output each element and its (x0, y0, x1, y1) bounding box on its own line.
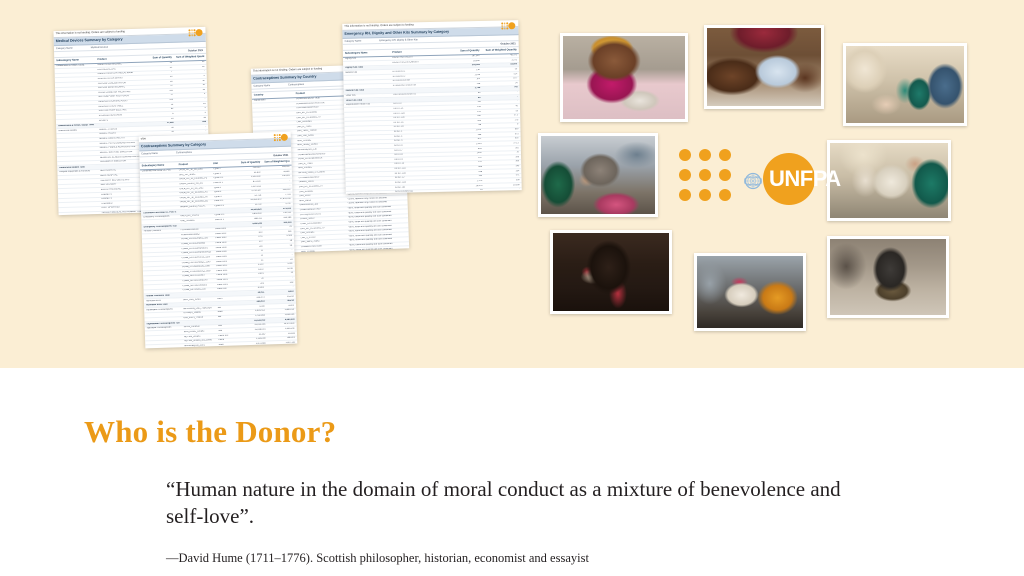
table-cell (59, 157, 96, 161)
col-weighted: Sum of Weighted Quantity (264, 160, 289, 164)
table-cell: 53,890 (484, 64, 517, 67)
table-cell: SUCTION PUMP ELECTRIC (99, 109, 142, 113)
table-cell: Vial (218, 329, 236, 332)
table-cell: 140 (449, 175, 482, 178)
col-subcategory: Subcategory Name (142, 164, 175, 168)
table-cell: FOOT OPERATED (101, 206, 144, 210)
table-cell: 286,000 (270, 337, 295, 340)
table-cell: Kit KIT-10 (395, 162, 445, 166)
table-cell: - (484, 91, 517, 94)
table-cell: Injectable Contraceptives (147, 327, 180, 331)
table-cell (347, 173, 390, 176)
table-cell (143, 220, 176, 224)
table-cell: Piece 1000 (215, 237, 233, 240)
table-cell: 438 (449, 171, 482, 174)
document-contraceptives-by-category[interactable]: ufpa Contraceptives Summary by Category … (139, 132, 298, 349)
table-cell: 150,000 (265, 175, 290, 178)
table-cell: ORL_EXP1_75MG6 (183, 316, 214, 319)
table-cell: Kit KIT-11B (395, 181, 445, 185)
table-cell (346, 122, 389, 125)
table-cell: Anaesthesia & Resus. Equip. Total (58, 124, 95, 128)
table-cell: MODEL, PELVIS (99, 132, 142, 136)
table-cell: MPA_C/00MG (301, 249, 345, 253)
quote-attribution: —David Hume (1711–1776). Scottish philos… (166, 551, 866, 566)
table-cell: 40 (146, 131, 174, 134)
table-cell (183, 302, 214, 305)
table-cell: Combined Low Dose OC Pills (142, 169, 175, 173)
table-cell: 10 (238, 255, 263, 258)
table-cell: IMPLANON_LNG_75MGX2R (183, 307, 214, 310)
table-cell: Cycle of 1 (214, 177, 232, 180)
table-cell: Piece 100 (218, 334, 236, 337)
table-cell: 8 (486, 193, 519, 194)
table-cell: Kit KIT-1LB (393, 111, 443, 115)
table-cell: 19 (145, 104, 173, 107)
table-cell: 20 (146, 127, 174, 130)
table-cell: <80%, funds and quantity are both confir… (349, 247, 407, 252)
photo-mother-newborn-hospital-bed[interactable] (560, 33, 688, 122)
table-cell: 46,218 (269, 300, 294, 303)
table-cell: ORE_1150MG (180, 219, 211, 222)
logo-circle-icon (508, 22, 515, 29)
table-cell: 11 (238, 250, 263, 253)
table-cell (346, 126, 389, 129)
table-cell: 9,472,800 (240, 342, 265, 345)
table-cell: 900,018 (266, 221, 291, 224)
table-cell: 820 (485, 138, 518, 141)
photo-image (553, 233, 669, 311)
table-cell: 54,718 (236, 194, 261, 197)
logo-circle-icon (195, 29, 202, 36)
table-cell (142, 188, 175, 192)
table-cell: Hormonal IUDs (146, 299, 179, 303)
table-cell (58, 133, 95, 137)
table-cell (145, 276, 178, 280)
table-cell (60, 184, 97, 188)
table-cell: KIT/0/0/0/0/0TMH (393, 79, 443, 83)
table-cell (57, 78, 94, 82)
table-cell: OTORQX_188MG (183, 312, 214, 315)
table-cell: Kit KIT-8 (394, 153, 444, 157)
table-cell: 10,800 (239, 287, 264, 290)
table-cell: SUCTION PUMP, FOOT OPER. (98, 95, 141, 99)
category-value: Emergency RH, Dignity & Other Kits (379, 38, 417, 42)
table-cell: Implantable Contraceptives Total (147, 322, 180, 326)
table-cell: 675 (485, 133, 518, 136)
table-cell: 209 (268, 281, 293, 284)
table-cell: 8 (485, 124, 518, 127)
table-cell: 19,250,870 (236, 199, 261, 202)
category-value: Contraceptives (288, 83, 304, 87)
table-cell: Cycle 3 (214, 195, 232, 198)
table-cell (60, 175, 97, 179)
photo-image (846, 46, 964, 123)
table-cell: 39 (484, 68, 517, 71)
table-cell: LARYNGOSCOPE (97, 67, 140, 71)
table-cell: ORLB_OC_30_EE30MG_P0 (180, 196, 211, 199)
table-cell: Implantable Contraceptives (146, 308, 179, 312)
table-cell: Kit KIT-2B (394, 125, 444, 129)
table-cell: - (485, 101, 518, 104)
table-cell: ORLB_OC_30_EE_LNG (179, 168, 210, 171)
unfpa-logo-small (188, 29, 202, 36)
table-cell: DIGNITY/0/CUSTOM/0/KIT (392, 60, 442, 64)
table-cell: CONM_LATEXPR0010_1100 (182, 256, 213, 259)
table-cell: Piece 1001 (217, 283, 235, 286)
table-cell (346, 117, 389, 120)
table-cell: OXYGEN CONCENTRATOR (98, 81, 141, 85)
table-cell: 17 (145, 94, 173, 97)
table-cell: 988,311 (237, 218, 262, 221)
table-cell: 4,804,512 (239, 310, 264, 313)
table-cell: Kit KIT-11B (395, 171, 445, 175)
table-cell: 10 (268, 272, 293, 275)
photo-newborn-in-crib[interactable] (694, 253, 806, 331)
table-cell: CONM_NOTRU200M3 (182, 275, 213, 278)
unfpa-logo-small (501, 22, 515, 29)
table-cell: Medical Kits Total (346, 89, 389, 92)
category-value: Medical Devices (91, 46, 108, 49)
table-cell: ORB01_EE30D_NU_B1 (179, 182, 210, 185)
table-cell (60, 207, 97, 211)
table-cell: ANESTHESIA MACHINE (97, 63, 140, 67)
table-cell: 6,010 (238, 268, 263, 271)
hero-band: This information is not binding. Orders … (0, 0, 1024, 368)
table-cell: 5,850,810 (236, 213, 261, 216)
table-cell: Hospital Equipment & Furniture (59, 170, 96, 174)
category-label: Category Name (253, 84, 270, 88)
table-cell: - (177, 98, 205, 101)
table-cell: NET-EN_200MG (184, 335, 215, 338)
table-cell: Piece 1000 (216, 260, 234, 263)
table-cell (181, 224, 212, 227)
table-cell: 29 (144, 80, 172, 83)
table-cell: 371 (486, 175, 519, 178)
table-cell: 34,800 (235, 171, 260, 174)
table-cell (345, 75, 388, 78)
table-cell: 81,819 (270, 332, 295, 335)
table-cell: 10,700 (236, 204, 261, 207)
table-cell (392, 65, 442, 69)
table-cell: ORLB_OC_30_EE30MG_P2 (179, 191, 210, 194)
table-cell (347, 177, 390, 180)
unfpa-logo-small (274, 134, 288, 142)
col-product: Product (392, 50, 442, 54)
table-cell (100, 165, 143, 169)
col-quantity: Sum of Quantity (144, 56, 172, 60)
table-cell (147, 331, 180, 335)
table-cell (346, 108, 389, 111)
table-cell: 14,370,600 (269, 323, 294, 326)
table-cell: 1,018 (447, 74, 480, 77)
table-cell: MODEL, BIRTHING SIMULATOR (100, 151, 143, 155)
table-cell (348, 182, 391, 185)
table-cell: 44,487 (240, 333, 265, 336)
table-cell: 10 (486, 151, 519, 154)
photo-midwife-handing-newborn[interactable] (827, 140, 951, 221)
table-cell: Emergency Contraceptives Total (144, 225, 177, 229)
table-cell: 1,510,854 (240, 315, 265, 318)
table-cell: Piece 100 (217, 288, 235, 291)
table-cell: Vial (218, 325, 236, 328)
table-cell: 35 (144, 62, 172, 65)
table-cell: 47 (144, 85, 172, 88)
col-country: Country (254, 93, 292, 97)
table-cell: 90 (177, 89, 205, 92)
photo-mother-infant-shelter[interactable] (827, 236, 949, 318)
col-subcategory: Subcategory Name (56, 59, 93, 63)
logo-dot-grid-icon (679, 149, 731, 201)
table-cell: - (178, 130, 206, 133)
table-cell: 2 (176, 75, 204, 78)
table-cell (183, 293, 214, 296)
table-cell: FCM/FEMIDOM8Q (181, 233, 212, 236)
table-cell: - (268, 277, 293, 280)
table-cell (348, 186, 391, 189)
table-cell (57, 83, 94, 87)
table-cell: ORLB_OC_30_EE_LNG (179, 187, 210, 190)
table-cell: ORLB_OC_30_EE30MG_B1 (180, 201, 211, 204)
un-emblem-icon (741, 169, 765, 193)
table-cell (393, 88, 443, 92)
table-cell: Piece 1000 (216, 242, 234, 245)
table-cell (144, 248, 177, 252)
table-cell (143, 197, 176, 201)
table-cell: 231 (447, 111, 480, 114)
table-cell: Piece 1000 (216, 251, 234, 254)
table-cell (180, 210, 211, 213)
table-cell: 800 (266, 231, 291, 234)
table-cell: 22 (145, 117, 173, 120)
table-cell: Kit KIT-11B (394, 116, 444, 120)
table-cell (347, 159, 390, 162)
table-cell: OXYGEN MASK NEONATE (98, 86, 141, 90)
table-cell: 1,170 (449, 180, 482, 183)
photo-medical-team-delivery-room[interactable] (843, 43, 967, 126)
table-cell: 30 (177, 84, 205, 87)
table-cell: Emergency Contraceptives (143, 216, 176, 220)
table-cell: 3 (177, 107, 205, 110)
table-cell: Set (218, 306, 236, 309)
table-cell (347, 149, 390, 152)
table-cell: 0/TMO/0/KIT/0/0/0/0TM (393, 84, 443, 88)
table-cell: 22 (267, 258, 292, 261)
table-cell (345, 80, 388, 83)
table-cell: ORB001_EE30D_P02_P1 (180, 205, 211, 208)
table-cell: Piece 1001 (217, 274, 235, 277)
table-cell: 119 (144, 90, 172, 93)
table-cell (143, 202, 176, 206)
table-cell: Anatomical Models Total (59, 166, 96, 170)
table-cell: 1,128,000 (240, 338, 265, 341)
table-cell: MODEL, UTERUS (99, 128, 142, 132)
table-cell: TROLLEY/MEDICAL INSTRUMENT TABLE, ASEPT (101, 211, 144, 215)
table-cell: 290 (178, 121, 206, 124)
table-cell (145, 271, 178, 275)
table-cell: CONM_NOTROORMOP0 (182, 279, 213, 282)
photo-mother-child-resting[interactable] (538, 133, 658, 217)
table-cell (60, 189, 97, 193)
table-cell: 295 (448, 120, 481, 123)
table-cell: 20 (144, 76, 172, 79)
table-cell: 399 (486, 156, 519, 159)
col-weighted: Sum of Weighted Quantity (483, 49, 516, 53)
table-cell: 40,373 (484, 54, 517, 57)
table-cell: Piece (219, 339, 237, 342)
table-cell: 5,850,283 (237, 222, 262, 225)
table-cell (59, 161, 96, 165)
table-cell: Dignity Kits Total (345, 66, 388, 69)
table-cell: 80 (447, 92, 480, 95)
table-cell: 1,508 (267, 235, 292, 238)
table-cell: Other Kits Total (346, 99, 389, 102)
category-value: Contraceptives (176, 151, 192, 154)
table-cell (58, 106, 95, 110)
table-cell: 0.51 (237, 236, 262, 239)
table-cell: CONM_LATEXORMAN00AQ3 (181, 252, 212, 255)
table-cell: 1,000 (267, 263, 292, 266)
table-cell (217, 302, 235, 305)
table-cell: 51 (144, 67, 172, 70)
table-cell: 54 (238, 259, 263, 262)
table-cell: 1,434 (448, 143, 481, 146)
table-cell: Pack of 1 (214, 200, 232, 203)
table-cell: 135 (447, 106, 480, 109)
table-cell (57, 69, 94, 73)
table-cell: 2 (177, 112, 205, 115)
table-cell: CONM_OTODRMAOQ_1060 (182, 270, 213, 273)
table-cell (144, 253, 177, 257)
table-cell (59, 152, 96, 156)
table-cell (60, 180, 97, 184)
document-emergency-rh-kits-summary[interactable]: This information is not binding. Orders … (342, 20, 522, 194)
content-area: Who is the Donor? “Human nature in the d… (0, 368, 1024, 576)
table-cell (142, 174, 175, 178)
table-cell (58, 120, 95, 124)
col-unit: Unit (213, 162, 231, 166)
table-cell (147, 336, 180, 340)
table-cell (146, 290, 179, 294)
table-cell (218, 320, 236, 323)
table-cell (57, 97, 94, 101)
table-cell: RESUSCITATOR INFANT (98, 77, 141, 81)
photo-image (563, 36, 685, 119)
table-cell: MPASUBQ100_0001 (184, 344, 215, 347)
table-cell: 6,010 (268, 267, 293, 270)
table-cell: PULSE OXIMETER PAEDIATRIC (98, 91, 141, 95)
table-cell (146, 317, 179, 321)
table-cell: MPA_DLMG_100MG (184, 330, 215, 333)
table-cell: Anatomical Models (58, 129, 95, 133)
table-cell: Cycle 1 (213, 168, 231, 171)
table-cell: Piece 1001 (216, 269, 234, 272)
table-cell: Kit KIT-0B (395, 185, 445, 189)
table-cell: 209 (239, 282, 264, 285)
table-cell: 8,618 (268, 291, 293, 294)
table-cell (143, 193, 176, 197)
table-cell: BED DELIVERY (101, 183, 144, 187)
table-cell: Piece 1000 (216, 246, 234, 249)
table-cell: 50 (485, 110, 518, 113)
table-cell: Piece 1000 (215, 232, 233, 235)
table-cell (345, 62, 388, 65)
table-cell: 239,473 (239, 296, 264, 299)
col-quantity: Sum of Quantity (446, 49, 479, 53)
page-title: Who is the Donor? (84, 414, 336, 450)
unfpa-wordmark: UNFPA (769, 166, 841, 192)
table-cell (346, 112, 389, 115)
table-cell: - (178, 126, 206, 129)
table-cell (60, 198, 97, 202)
table-cell: 872,400 (235, 181, 260, 184)
unfpa-logo: UNFPA (679, 143, 801, 205)
table-cell: CONM_LATEXORM/860 (181, 242, 212, 245)
table-cell: 24 (177, 103, 205, 106)
table-cell: <80%, funds and quantity are both confir… (349, 252, 407, 254)
table-cell: 720,000 (235, 167, 260, 170)
table-cell: Female Condoms Total (146, 294, 179, 298)
table-cell: 1520 (448, 152, 481, 155)
table-cell: DELIVERY BED OBSTETRIC (100, 178, 143, 182)
table-cell: 28,911 (239, 292, 264, 295)
table-cell: - (176, 70, 204, 73)
table-cell (145, 257, 178, 261)
table-cell: CONM_NOTROORM003 (182, 284, 213, 287)
table-cell (217, 292, 235, 295)
table-cell (142, 183, 175, 187)
table-cell: Kit KIT-6 (394, 144, 444, 148)
table-cell: 514 (484, 73, 517, 76)
table-cell: 18 (267, 240, 292, 243)
table-cell: Hormonal IUDs Total (146, 303, 179, 307)
table-cell: 140 (145, 99, 173, 102)
table-cell: 502 (486, 147, 519, 150)
table-cell: 34,800 (264, 170, 289, 173)
table-cell: 371.3 (485, 142, 518, 145)
table-cell: Anaesthesia & Resus. Equip. (56, 64, 93, 68)
table-cell: 7 (144, 71, 172, 74)
table-cell (57, 73, 94, 77)
col-quantity: Sum of Quantity (235, 161, 260, 165)
table-cell: 178 (485, 119, 518, 122)
table-cell: Kit KIT-11A (395, 167, 445, 171)
table-cell: 1,708 (447, 87, 480, 90)
logo-circle-icon (281, 134, 288, 141)
table-cell: Kit KIT-1A (393, 107, 443, 111)
table-cell: Piece 1000 (216, 255, 234, 258)
table-cell: Cycle 3 (213, 172, 231, 175)
table-cell: 10,630,900 (240, 319, 265, 322)
table-cell: 170 (449, 161, 482, 164)
table-cell: 6 (145, 113, 173, 116)
table-cell: CABINETS (101, 192, 144, 196)
table-cell (347, 154, 390, 157)
table-cell: Piece 1000 (215, 228, 233, 231)
table-cell: CHILDBIRTH SIMULATOR (100, 160, 143, 164)
table-cell (347, 168, 390, 171)
photo-woman-holding-infant-dark-room[interactable] (550, 230, 672, 314)
table-cell (58, 115, 95, 119)
table-cell: 16,550 (446, 60, 479, 63)
table-cell: 82 (145, 108, 173, 111)
table-cell: MODEL, FETAL DEMONSTRATION (99, 141, 142, 145)
table-cell: Cycle of 1 (215, 214, 233, 217)
table-cell: 3,380,008 (269, 318, 294, 321)
table-cell: ANAESTHESIA LARYNGEAL MASK (97, 72, 140, 76)
table-cell: 800 (485, 128, 518, 131)
table-cell: 288,903 (239, 301, 264, 304)
photo-hands-caring-newborn[interactable] (704, 25, 824, 109)
